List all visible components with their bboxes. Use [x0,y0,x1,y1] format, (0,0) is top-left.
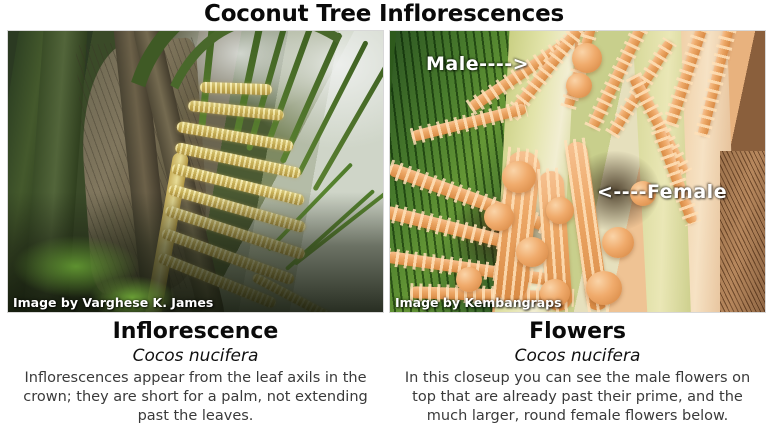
caption-body: Inflorescences appear from the leaf axil… [7,367,384,426]
caption-heading: Flowers [389,318,766,345]
female-flower [602,227,634,258]
page-title: Coconut Tree Inflorescences [0,1,768,27]
female-flower [566,73,592,98]
male-flower-label: Male----> [426,53,529,75]
female-flower [516,237,548,267]
female-flower [456,267,482,292]
photo-flowers: Male----> <----Female Image by Kembangra… [389,30,766,313]
photo-credit: Image by Kembangraps [395,295,562,310]
panel-inflorescence: Image by Varghese K. James Inflorescence… [7,30,384,432]
photo-inflorescence: Image by Varghese K. James [7,30,384,313]
female-flower [484,203,514,231]
foreground-foliage [8,192,384,312]
female-flower-label: <----Female [597,181,727,203]
caption-species: Cocos nucifera [389,345,766,367]
caption-species: Cocos nucifera [7,345,384,367]
caption-flowers: Flowers Cocos nucifera In this closeup y… [389,313,766,426]
panel-flowers: Male----> <----Female Image by Kembangra… [389,30,766,432]
caption-heading: Inflorescence [7,318,384,345]
caption-inflorescence: Inflorescence Cocos nucifera Inflorescen… [7,313,384,426]
caption-body: In this closeup you can see the male flo… [389,367,766,426]
female-flower [502,161,536,193]
trunk-fiber-shape [720,151,766,313]
infographic-page: Coconut Tree Inflorescences [0,0,768,432]
female-flower [586,271,622,305]
photo-credit: Image by Varghese K. James [13,295,213,310]
female-flower [546,197,574,224]
female-flower [572,43,602,73]
